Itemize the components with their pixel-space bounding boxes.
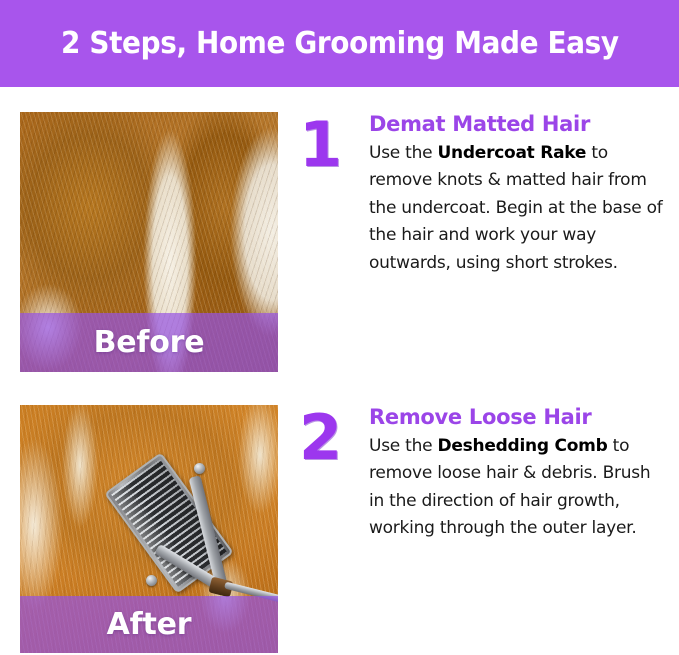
step-row-1: Before 1 Demat Matted Hair Use the Under… <box>0 112 679 374</box>
step-1-tool-name: Undercoat Rake <box>437 143 586 163</box>
step-2-tool-name: Deshedding Comb <box>437 436 607 456</box>
rake-rivet-bottom <box>146 575 157 586</box>
step-1-description: Use the Undercoat Rake to remove knots &… <box>369 140 669 278</box>
after-photo: After <box>20 405 278 653</box>
step-number-2: 2 <box>299 407 361 469</box>
step-number-1: 1 <box>299 114 361 176</box>
step-2-heading: Remove Loose Hair <box>369 405 669 431</box>
after-label-band: After <box>20 596 278 653</box>
page-title: 2 Steps, Home Grooming Made Easy <box>61 26 619 61</box>
step-1-heading: Demat Matted Hair <box>369 112 669 138</box>
step-2-text-lead: Use the <box>369 436 437 456</box>
header-banner: 2 Steps, Home Grooming Made Easy <box>0 0 679 87</box>
step-2-body: Remove Loose Hair Use the Deshedding Com… <box>369 405 669 543</box>
before-photo: Before <box>20 112 278 372</box>
before-label-text: Before <box>94 325 205 360</box>
step-row-2: After 2 Remove Loose Hair Use the Deshed… <box>0 405 679 655</box>
after-label-text: After <box>107 607 192 642</box>
before-label-band: Before <box>20 313 278 372</box>
rake-rivet-top <box>194 463 205 474</box>
step-2-description: Use the Deshedding Comb to remove loose … <box>369 433 669 543</box>
step-1-text-lead: Use the <box>369 143 437 163</box>
step-1-body: Demat Matted Hair Use the Undercoat Rake… <box>369 112 669 277</box>
